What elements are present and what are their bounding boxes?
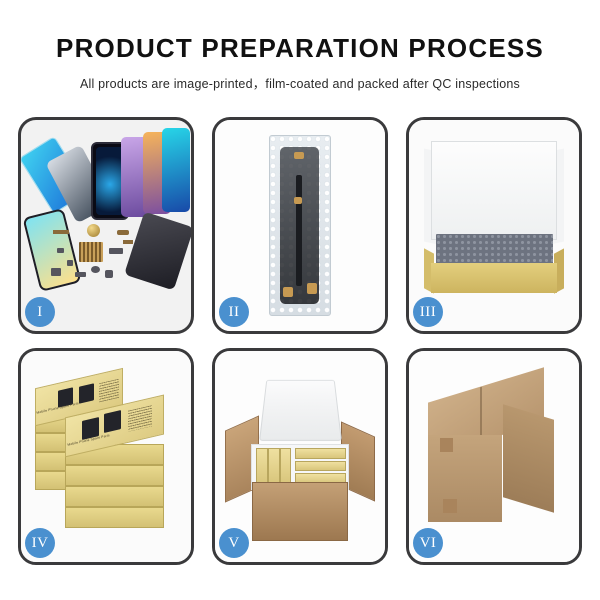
carton-tape-lower [443,499,457,514]
process-step-2[interactable]: II [212,117,388,334]
tape-bottom-right [307,283,316,294]
phone-teal [162,128,190,212]
phone-yellow-screen [22,208,81,292]
page-title: PRODUCT PREPARATION PROCESS [0,34,600,63]
part-chip-strip [53,230,69,234]
part-bracket [51,268,61,276]
box-label-rear-b [79,383,94,403]
packed-box-4 [295,448,346,459]
part-flex-a [117,230,129,235]
step-badge-3: III [413,297,443,327]
box-white-lid [431,141,557,240]
process-step-3[interactable]: III [406,117,582,334]
part-speaker [75,272,86,277]
tape-top [294,152,303,159]
carton-tape-upper [440,438,454,453]
packed-box-3 [280,448,292,484]
phone-back-cover [124,212,194,291]
process-grid: I II III [18,117,582,565]
step-badge-6: VI [413,528,443,558]
packed-box-2 [268,448,280,484]
part-camera [105,270,113,278]
process-step-4[interactable]: Mobile Phone Spare Parts Mobile Phone Sp… [18,348,194,565]
part-connector [109,248,123,254]
packed-box-5 [295,461,346,472]
carton-body [252,482,347,541]
tape-mid [294,197,302,204]
process-step-1[interactable]: I [18,117,194,334]
step-badge-4: IV [25,528,55,558]
carton-side-face [503,404,554,512]
part-grid-board [79,242,103,262]
step-badge-5: V [219,528,249,558]
part-gold-coil [87,224,100,237]
bubble-wrap-sheet [269,135,330,316]
gray-foam-insert [436,234,553,266]
box-front-yellow [431,263,557,293]
stacked-box-front-4 [65,507,164,528]
flex-cable [296,175,301,286]
packed-box-1 [256,448,268,484]
page-header: PRODUCT PREPARATION PROCESS All products… [0,0,600,92]
tape-bottom-left [283,287,293,298]
stacked-box-front-3 [65,486,164,507]
page-subtitle: All products are image-printed，film-coat… [0,73,600,92]
process-step-5[interactable]: V [212,348,388,565]
part-button [91,266,100,273]
stacked-box-front-2 [65,465,164,486]
step-badge-1: I [25,297,55,327]
part-screw-a [57,248,64,253]
part-screw-b [67,260,73,266]
foam-lid-open [259,380,342,441]
part-flex-b [123,240,133,244]
process-step-6[interactable]: VI [406,348,582,565]
step-badge-2: II [219,297,249,327]
